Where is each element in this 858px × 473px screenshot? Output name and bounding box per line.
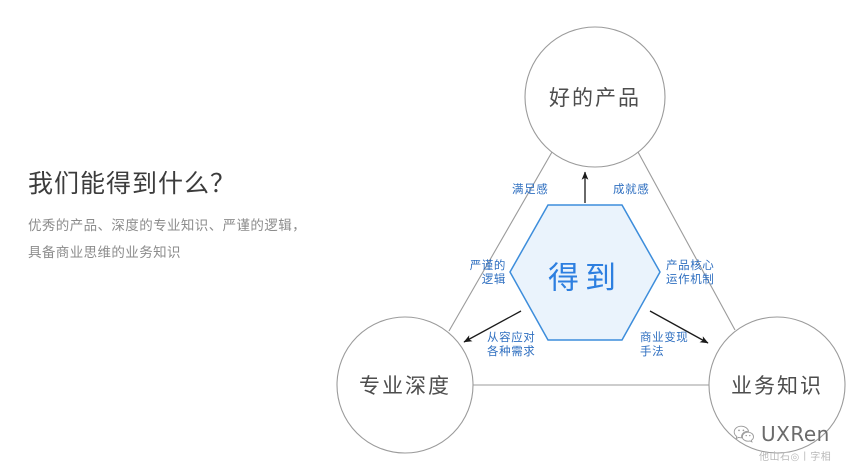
note-satisfaction: 满足感 [512,182,548,196]
watermark-subtext: 他山石◎丨字相 [759,448,831,463]
node-label-good-product: 好的产品 [549,82,641,112]
watermark-row: UXRen [733,422,830,446]
center-hexagon-label: 得到 [548,253,622,298]
value-triangle-diagram: 好的产品 专业深度 业务知识 得到 满足感 成就感 严谨的 逻辑 产品核心 运作… [0,0,858,473]
note-monetization: 商业变现 手法 [640,330,688,358]
note-monetization-line-1: 商业变现 [640,330,688,344]
triangle-side-right [638,152,735,330]
note-product-core: 产品核心 运作机制 [666,258,714,286]
note-product-core-line-1: 产品核心 [666,258,714,272]
node-label-professional-depth: 专业深度 [359,370,451,400]
wechat-icon [733,425,755,443]
node-label-business-knowledge: 业务知识 [731,370,823,400]
note-achievement: 成就感 [613,182,649,196]
diagram-canvas [0,0,858,473]
note-handle-demands-line-2: 各种需求 [487,344,535,358]
note-rigorous-logic-line-2: 逻辑 [458,272,506,286]
note-monetization-line-2: 手法 [640,344,688,358]
note-rigorous-logic-line-1: 严谨的 [458,258,506,272]
note-rigorous-logic: 严谨的 逻辑 [458,258,506,286]
note-handle-demands: 从容应对 各种需求 [487,330,535,358]
uxren-watermark: UXRen 他山石◎丨字相 [733,422,831,463]
watermark-brand: UXRen [761,422,830,446]
note-product-core-line-2: 运作机制 [666,272,714,286]
note-handle-demands-line-1: 从容应对 [487,330,535,344]
